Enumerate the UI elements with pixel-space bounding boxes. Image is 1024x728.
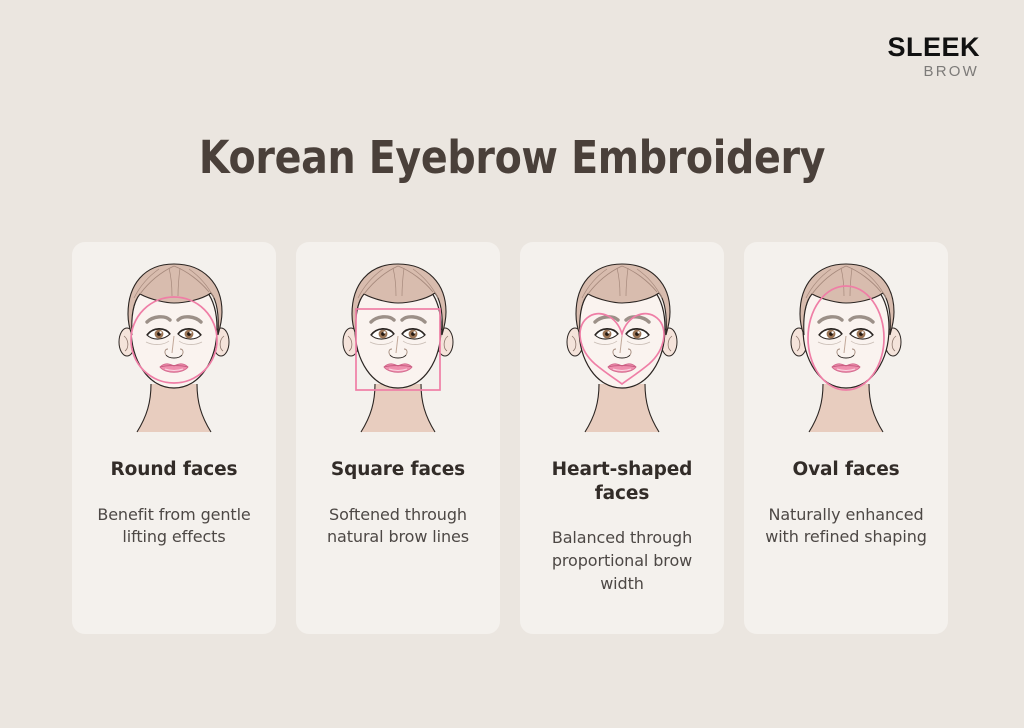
card-description: Naturally enhanced with refined shaping bbox=[754, 504, 938, 549]
card-title: Round faces bbox=[84, 458, 264, 482]
card-title: Oval faces bbox=[756, 458, 936, 482]
face-shape-card-square[interactable]: Square faces Softened through natural br… bbox=[296, 242, 500, 634]
card-description: Balanced through proportional brow width bbox=[530, 527, 714, 595]
face-illustration-round bbox=[99, 256, 249, 448]
card-title: Square faces bbox=[308, 458, 488, 482]
card-description: Softened through natural brow lines bbox=[306, 504, 490, 549]
face-illustration-oval bbox=[771, 256, 921, 448]
card-description: Benefit from gentle lifting effects bbox=[82, 504, 266, 549]
face-shape-card-grid: Round faces Benefit from gentle lifting … bbox=[72, 242, 952, 634]
brand-tagline: BROW bbox=[887, 64, 980, 79]
face-shape-card-oval[interactable]: Oval faces Naturally enhanced with refin… bbox=[744, 242, 948, 634]
card-title: Heart-shaped faces bbox=[532, 458, 712, 505]
brand-name: SLEEK bbox=[887, 34, 980, 61]
face-shape-card-heart[interactable]: Heart-shaped faces Balanced through prop… bbox=[520, 242, 724, 634]
page-title: Korean Eyebrow Embroidery bbox=[61, 131, 962, 184]
face-shape-card-round[interactable]: Round faces Benefit from gentle lifting … bbox=[72, 242, 276, 634]
face-illustration-square bbox=[323, 256, 473, 448]
brand-logo: SLEEK BROW bbox=[887, 34, 980, 79]
face-illustration-heart bbox=[547, 256, 697, 448]
